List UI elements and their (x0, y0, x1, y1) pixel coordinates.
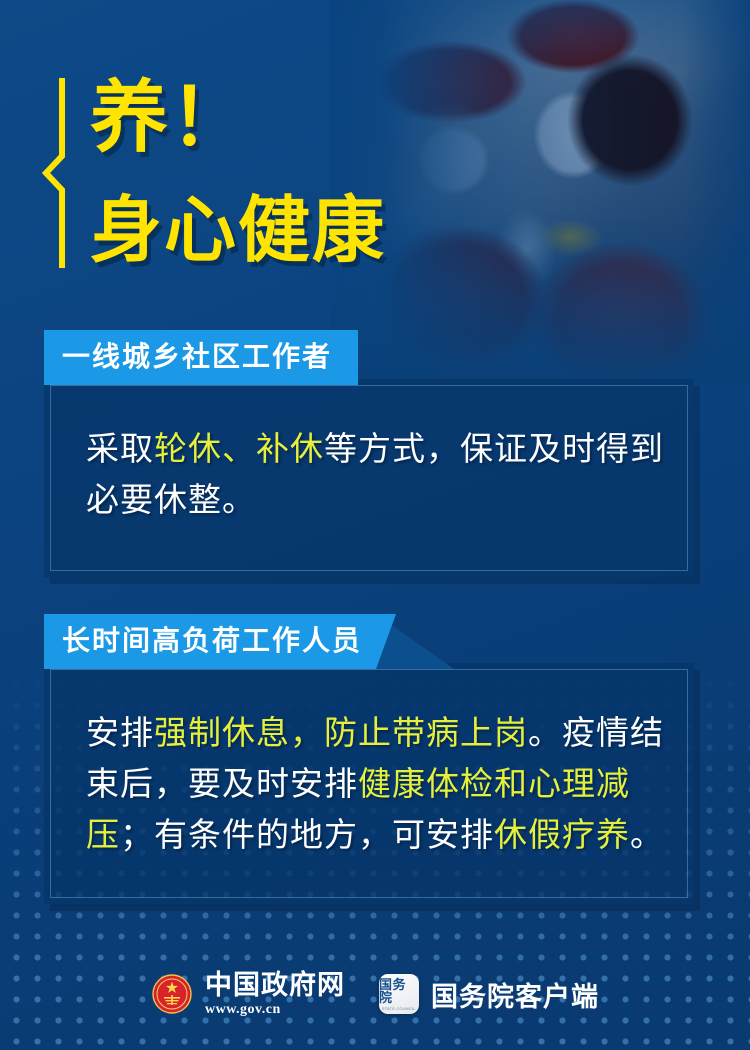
content-card: 一线城乡社区工作者 采取轮休、补休等方式，保证及时得到必要休整。 (44, 330, 694, 577)
card-header-badge: 长时间高负荷工作人员 (44, 614, 396, 669)
card-body: 采取轮休、补休等方式，保证及时得到必要休整。 (44, 379, 694, 577)
volunteers-photo (330, 0, 750, 385)
highlighted-text: 强制休息，防止带病上岗 (154, 714, 528, 751)
state-council-app-icon: 国务院 STATE COUNCIL (379, 974, 419, 1014)
highlighted-text: 轮休、补休 (154, 430, 324, 467)
card-text: 安排强制休息，防止带病上岗。疫情结束后，要及时安排健康体检和心理减压；有条件的地… (86, 707, 666, 860)
body-text: ；有条件的地方，可安排 (120, 816, 494, 853)
gov-app-brand[interactable]: 国务院 STATE COUNCIL 国务院客户端 (379, 974, 599, 1014)
card-body: 安排强制休息，防止带病上岗。疫情结束后，要及时安排健康体检和心理减压；有条件的地… (44, 663, 694, 904)
bracket-line-icon (42, 78, 68, 268)
highlighted-text: 休假疗养 (494, 816, 630, 853)
national-emblem-icon (151, 973, 193, 1015)
poster-root: 养！ 身心健康 一线城乡社区工作者 采取轮休、补休等方式，保证及时得到必要休整。… (0, 0, 750, 1050)
body-text: 。 (630, 816, 664, 853)
gov-site-brand[interactable]: 中国政府网 www.gov.cn (151, 971, 345, 1018)
body-text: 采取 (86, 430, 154, 467)
photo-fade-bottom (330, 0, 750, 385)
headline-line-1: 养！ (90, 78, 386, 158)
body-text: 安排 (86, 714, 154, 751)
headline-line-2: 身心健康 (90, 195, 386, 268)
app-icon-label: 国务院 (379, 978, 419, 1004)
card-text: 采取轮休、补休等方式，保证及时得到必要休整。 (86, 423, 666, 525)
gov-app-name: 国务院客户端 (431, 975, 599, 1014)
content-card: 长时间高负荷工作人员 安排强制休息，防止带病上岗。疫情结束后，要及时安排健康体检… (44, 614, 694, 904)
gov-site-name: 中国政府网 (205, 971, 345, 999)
headline: 养！ 身心健康 (42, 78, 386, 268)
app-icon-sublabel: STATE COUNCIL (382, 1007, 416, 1011)
gov-site-url: www.gov.cn (205, 1002, 345, 1018)
footer: 中国政府网 www.gov.cn 国务院 STATE COUNCIL 国务院客户… (0, 971, 750, 1018)
card-header-badge: 一线城乡社区工作者 (44, 330, 358, 385)
